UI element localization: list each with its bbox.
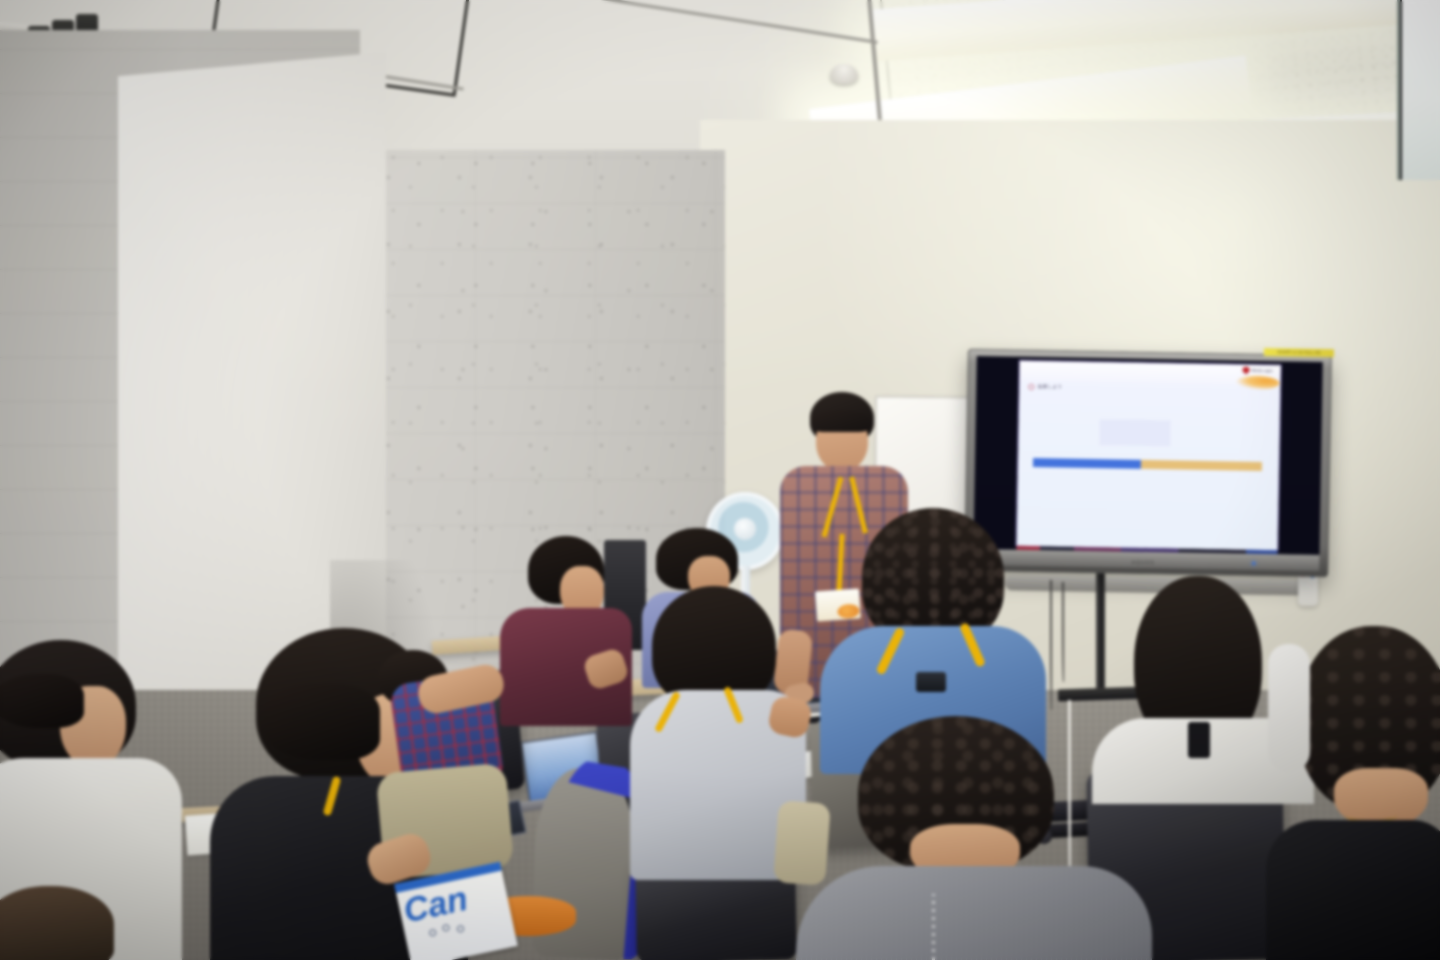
photo-scene: SHARP LC-52 FULL HD WebLogic 投票しよう [0, 0, 1440, 960]
slide-title-label: 投票しよう [1038, 384, 1063, 390]
attendee-light-grey-polo [612, 586, 802, 886]
lanyard-card-holder [916, 672, 946, 692]
hair-clip [1188, 722, 1210, 758]
bullet-circle-icon [1029, 384, 1035, 390]
faded-placeholder-box [1100, 419, 1171, 446]
attendee-hair [652, 586, 776, 706]
vote-bar-segment-agree [1033, 458, 1141, 468]
slide-title: 投票しよう [1029, 384, 1063, 391]
display-power-and-hdmi-cables [1050, 580, 1052, 710]
attendee-black-tshirt-torso [1266, 820, 1440, 960]
sleeve [1268, 644, 1310, 772]
presentation-slide: WebLogic 投票しよう [1017, 361, 1281, 551]
notebook-doodle [442, 924, 450, 932]
shield-icon [1242, 366, 1249, 374]
notebook-doodle [456, 925, 464, 933]
attendee-fringe [260, 684, 380, 760]
slide-logo-label: WebLogic [1251, 368, 1273, 373]
attendee-partial-white-sleeve [1268, 644, 1314, 774]
attendee-partial-head [0, 886, 116, 960]
attendee-hair [0, 886, 114, 960]
display-power-and-hdmi-cables [1062, 582, 1064, 682]
shirt-stitching [932, 894, 935, 960]
vote-bar-segment-disagree [1141, 460, 1263, 471]
ceiling-smoke-detector [830, 64, 858, 84]
display-brand-label: AQUOS [1132, 560, 1155, 566]
notebook-doodle [429, 929, 437, 937]
display-model-badge: SHARP LC-52 FULL HD [1264, 348, 1334, 357]
vote-result-bar [1033, 458, 1263, 471]
presenter-fringe [812, 410, 870, 432]
slide-logo-swoosh [1235, 375, 1279, 390]
attendee-grey-shirt-torso [796, 866, 1152, 960]
window-with-blind [1402, 0, 1440, 180]
slide-logo: WebLogic [1242, 366, 1273, 375]
attendee-fringe [0, 674, 84, 728]
